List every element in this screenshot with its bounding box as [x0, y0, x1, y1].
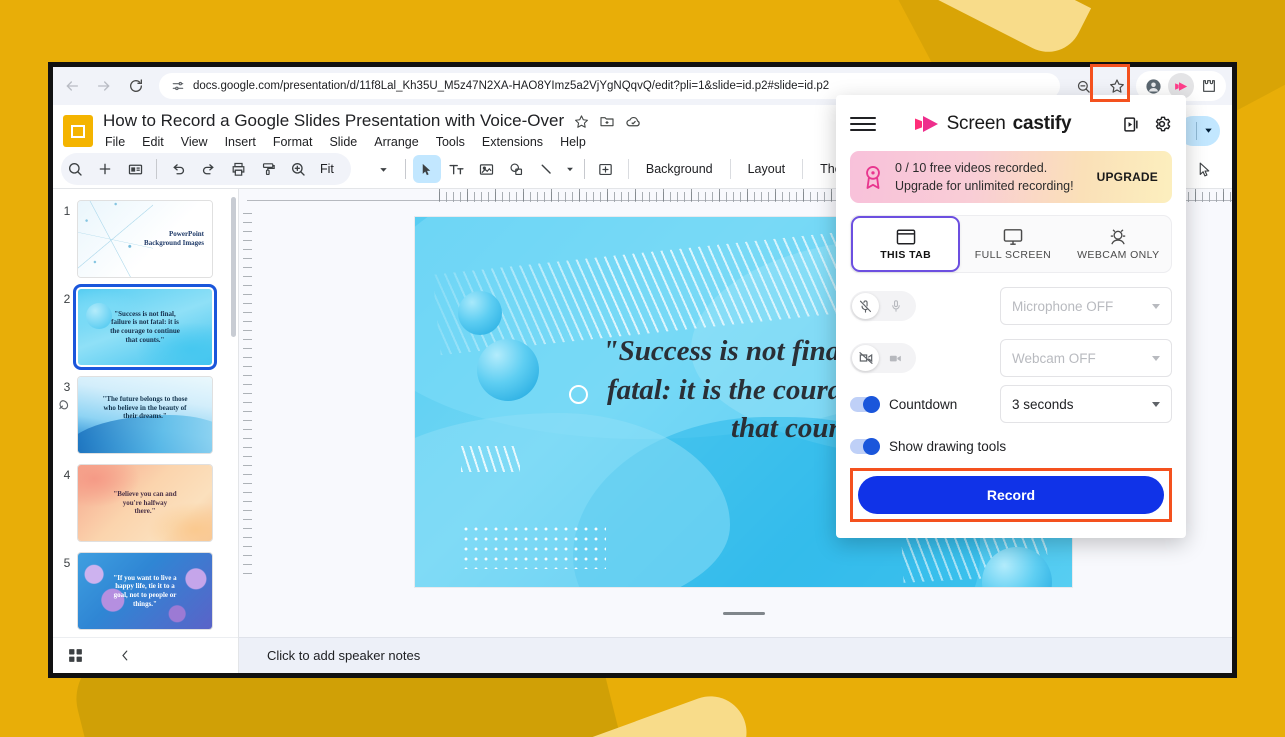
url-text: docs.google.com/presentation/d/11f8Lal_K… [193, 80, 829, 92]
slide-number: 3 [57, 376, 77, 394]
upgrade-banner[interactable]: 0 / 10 free videos recorded. Upgrade for… [850, 151, 1172, 203]
mode-webcam-only-label: WEBCAM ONLY [1077, 249, 1159, 261]
slide-number: 1 [57, 200, 77, 218]
brand-text-bold: castify [1013, 113, 1072, 135]
microphone-row: Microphone OFF [850, 287, 1172, 325]
document-title-row: How to Record a Google Slides Presentati… [103, 111, 642, 131]
countdown-select-value: 3 seconds [1012, 397, 1074, 412]
screencastify-header: Screencastify [850, 107, 1172, 141]
speaker-notes-placeholder: Click to add speaker notes [267, 648, 420, 663]
text-box-icon[interactable] [443, 155, 471, 183]
zoom-level-label[interactable]: Fit [314, 162, 340, 176]
banner-line-2: Upgrade for unlimited recording! [895, 179, 1074, 193]
slide-sphere-1 [458, 291, 502, 335]
menu-item-edit[interactable]: Edit [140, 134, 166, 150]
menu-item-file[interactable]: File [103, 134, 127, 150]
slide-thumbnail-selected[interactable]: "Success is not final,failure is not fat… [77, 288, 213, 366]
filmstrip-scrollbar[interactable] [231, 197, 236, 337]
filmstrip-footer [53, 637, 238, 673]
puzzle-piece-icon[interactable] [1196, 73, 1222, 99]
mode-webcam-only[interactable]: WEBCAM ONLY [1066, 216, 1171, 272]
thumbnail-text: "Success is not final,failure is not fat… [104, 310, 186, 345]
filmstrip-slide-5[interactable]: 5 "If you want to live ahappy life, tie … [53, 547, 238, 635]
countdown-toggle[interactable] [850, 397, 880, 412]
toolbar-separator [156, 159, 157, 179]
zoom-tool-icon[interactable] [284, 155, 312, 183]
comment-icon[interactable] [592, 155, 620, 183]
thumbnail-text: PowerPointBackground Images [78, 230, 212, 248]
chevron-down-icon [1152, 402, 1160, 407]
slide-number: 2 [57, 288, 77, 306]
toolbar-separator-2 [405, 159, 406, 179]
microphone-select[interactable]: Microphone OFF [1000, 287, 1172, 325]
recording-mode-selector: THIS TAB FULL SCREEN WEBCAM ONLY [850, 215, 1172, 273]
vertical-ruler-ticks [243, 213, 252, 577]
upgrade-button[interactable]: UPGRADE [1097, 170, 1158, 184]
filmstrip-slide-1[interactable]: 1 PowerPointBackground Images [53, 195, 238, 283]
link-clip-icon [56, 397, 73, 419]
print-icon[interactable] [224, 155, 252, 183]
webcam-row: Webcam OFF [850, 339, 1172, 377]
monitor-icon [1002, 228, 1024, 246]
page-title[interactable]: How to Record a Google Slides Presentati… [103, 111, 564, 131]
toolbar-separator-5 [730, 159, 731, 179]
countdown-label: Countdown [889, 397, 957, 412]
layout-icon[interactable] [121, 155, 149, 183]
webcam-person-icon [1107, 228, 1129, 246]
line-icon[interactable] [533, 155, 561, 183]
record-button-highlight: Record [850, 468, 1172, 522]
shape-icon[interactable] [503, 155, 531, 183]
webcam-toggle[interactable] [850, 343, 916, 373]
tune-icon[interactable] [171, 79, 185, 93]
forward-arrow-icon[interactable] [89, 71, 119, 101]
menu-bar: File Edit View Insert Format Slide Arran… [103, 134, 642, 150]
reload-icon[interactable] [121, 71, 151, 101]
hamburger-menu-icon[interactable] [850, 117, 876, 131]
mouse-cursor-icon[interactable] [1190, 155, 1218, 183]
banner-line-1: 0 / 10 free videos recorded. [895, 161, 1047, 175]
slideshow-divider [1196, 122, 1197, 140]
saved-to-drive-icon[interactable] [625, 113, 642, 130]
brand-text-light: Screen [947, 113, 1006, 135]
award-badge-icon [862, 164, 884, 190]
layout-button[interactable]: Layout [739, 158, 795, 180]
mode-full-screen[interactable]: FULL SCREEN [960, 216, 1065, 272]
filmstrip-slide-2[interactable]: 2 "Success is not final,failure is not f… [53, 283, 238, 371]
line-dropdown-icon[interactable] [563, 155, 577, 183]
microphone-muted-icon [852, 293, 879, 319]
microphone-select-value: Microphone OFF [1012, 299, 1113, 314]
microphone-icon [879, 299, 912, 313]
slide-filmstrip[interactable]: 1 PowerPointBackground Images 2 "Success… [53, 189, 238, 673]
move-to-folder-icon[interactable] [599, 113, 615, 129]
mode-this-tab[interactable]: THIS TAB [851, 216, 960, 272]
toolbar-separator-6 [802, 159, 803, 179]
countdown-switch-group[interactable]: Countdown [850, 397, 957, 412]
grid-view-icon[interactable] [67, 647, 84, 664]
menu-item-help[interactable]: Help [558, 134, 588, 150]
zoom-dropdown-icon[interactable] [370, 155, 398, 183]
slide-number: 5 [57, 552, 77, 570]
star-icon[interactable] [574, 114, 589, 129]
paint-format-icon[interactable] [254, 155, 282, 183]
thumbnail-text: "The future belongs to thosewho believe … [96, 395, 193, 421]
chevron-down-icon [1152, 304, 1160, 309]
menu-item-insert[interactable]: Insert [223, 134, 258, 150]
screencastify-brand: Screencastify [876, 113, 1109, 135]
filmstrip-slide-3[interactable]: 3 "The future belongs to thosewho believ… [53, 371, 238, 459]
drawing-tools-switch-group[interactable]: Show drawing tools [850, 439, 1172, 454]
thumbnail-text: "If you want to live ahappy life, tie it… [107, 574, 182, 609]
speaker-notes-panel[interactable]: Click to add speaker notes [239, 637, 1232, 673]
menu-item-format[interactable]: Format [271, 134, 315, 150]
video-library-icon[interactable] [1121, 115, 1140, 134]
undo-icon[interactable] [164, 155, 192, 183]
camera-off-icon [852, 345, 879, 371]
webcam-select[interactable]: Webcam OFF [1000, 339, 1172, 377]
chevron-down-icon [1152, 356, 1160, 361]
extension-icon-highlight [1090, 64, 1130, 102]
screencastify-logo-icon [914, 114, 940, 134]
toolbar-separator-3 [584, 159, 585, 179]
drawing-tools-toggle[interactable] [850, 439, 880, 454]
webcam-select-value: Webcam OFF [1012, 351, 1096, 366]
insert-image-icon[interactable] [473, 155, 501, 183]
microphone-toggle[interactable] [850, 291, 916, 321]
menu-item-arrange[interactable]: Arrange [372, 134, 420, 150]
camera-icon [879, 351, 912, 366]
screencastify-panel: Screencastify 0 / 10 free videos recorde… [836, 95, 1186, 538]
filmstrip-slide-4[interactable]: 4 "Believe you can andyou're halfwayther… [53, 459, 238, 547]
redo-icon[interactable] [194, 155, 222, 183]
mode-this-tab-label: THIS TAB [880, 249, 931, 261]
google-slides-logo-icon [63, 115, 93, 147]
countdown-select[interactable]: 3 seconds [1000, 385, 1172, 423]
slide-number: 4 [57, 464, 77, 482]
menu-item-slide[interactable]: Slide [327, 134, 359, 150]
chevron-left-icon[interactable] [118, 648, 133, 663]
back-arrow-icon[interactable] [57, 71, 87, 101]
slide-thumbnail[interactable]: "If you want to live ahappy life, tie it… [77, 552, 213, 630]
select-icon[interactable] [413, 155, 441, 183]
record-button[interactable]: Record [858, 476, 1164, 514]
new-slide-icon[interactable] [91, 155, 119, 183]
drawing-tools-label: Show drawing tools [889, 439, 1006, 454]
background-button[interactable]: Background [637, 158, 722, 180]
countdown-row: Countdown 3 seconds [850, 385, 1172, 423]
slide-dot-pattern [461, 524, 606, 568]
slide-thumbnail[interactable]: "Believe you can andyou're halfwaythere.… [77, 464, 213, 542]
vertical-ruler [239, 205, 255, 637]
menu-item-view[interactable]: View [179, 134, 210, 150]
toolbar-separator-4 [628, 159, 629, 179]
search-icon[interactable] [61, 155, 89, 183]
slide-thumbnail[interactable]: "The future belongs to thosewho believe … [77, 376, 213, 454]
notes-resize-handle[interactable] [723, 612, 765, 615]
browser-tab-icon [895, 228, 917, 246]
slide-stripes-left [461, 446, 520, 472]
menu-item-tools[interactable]: Tools [434, 134, 467, 150]
slide-thumbnail[interactable]: PowerPointBackground Images [77, 200, 213, 278]
menu-item-extensions[interactable]: Extensions [480, 134, 545, 150]
thumbnail-text: "Believe you can andyou're halfwaythere.… [107, 490, 182, 516]
gear-icon[interactable] [1152, 114, 1172, 134]
chevron-down-icon[interactable] [1203, 125, 1214, 136]
mode-full-screen-label: FULL SCREEN [975, 249, 1051, 261]
upgrade-banner-text: 0 / 10 free videos recorded. Upgrade for… [895, 159, 1086, 195]
